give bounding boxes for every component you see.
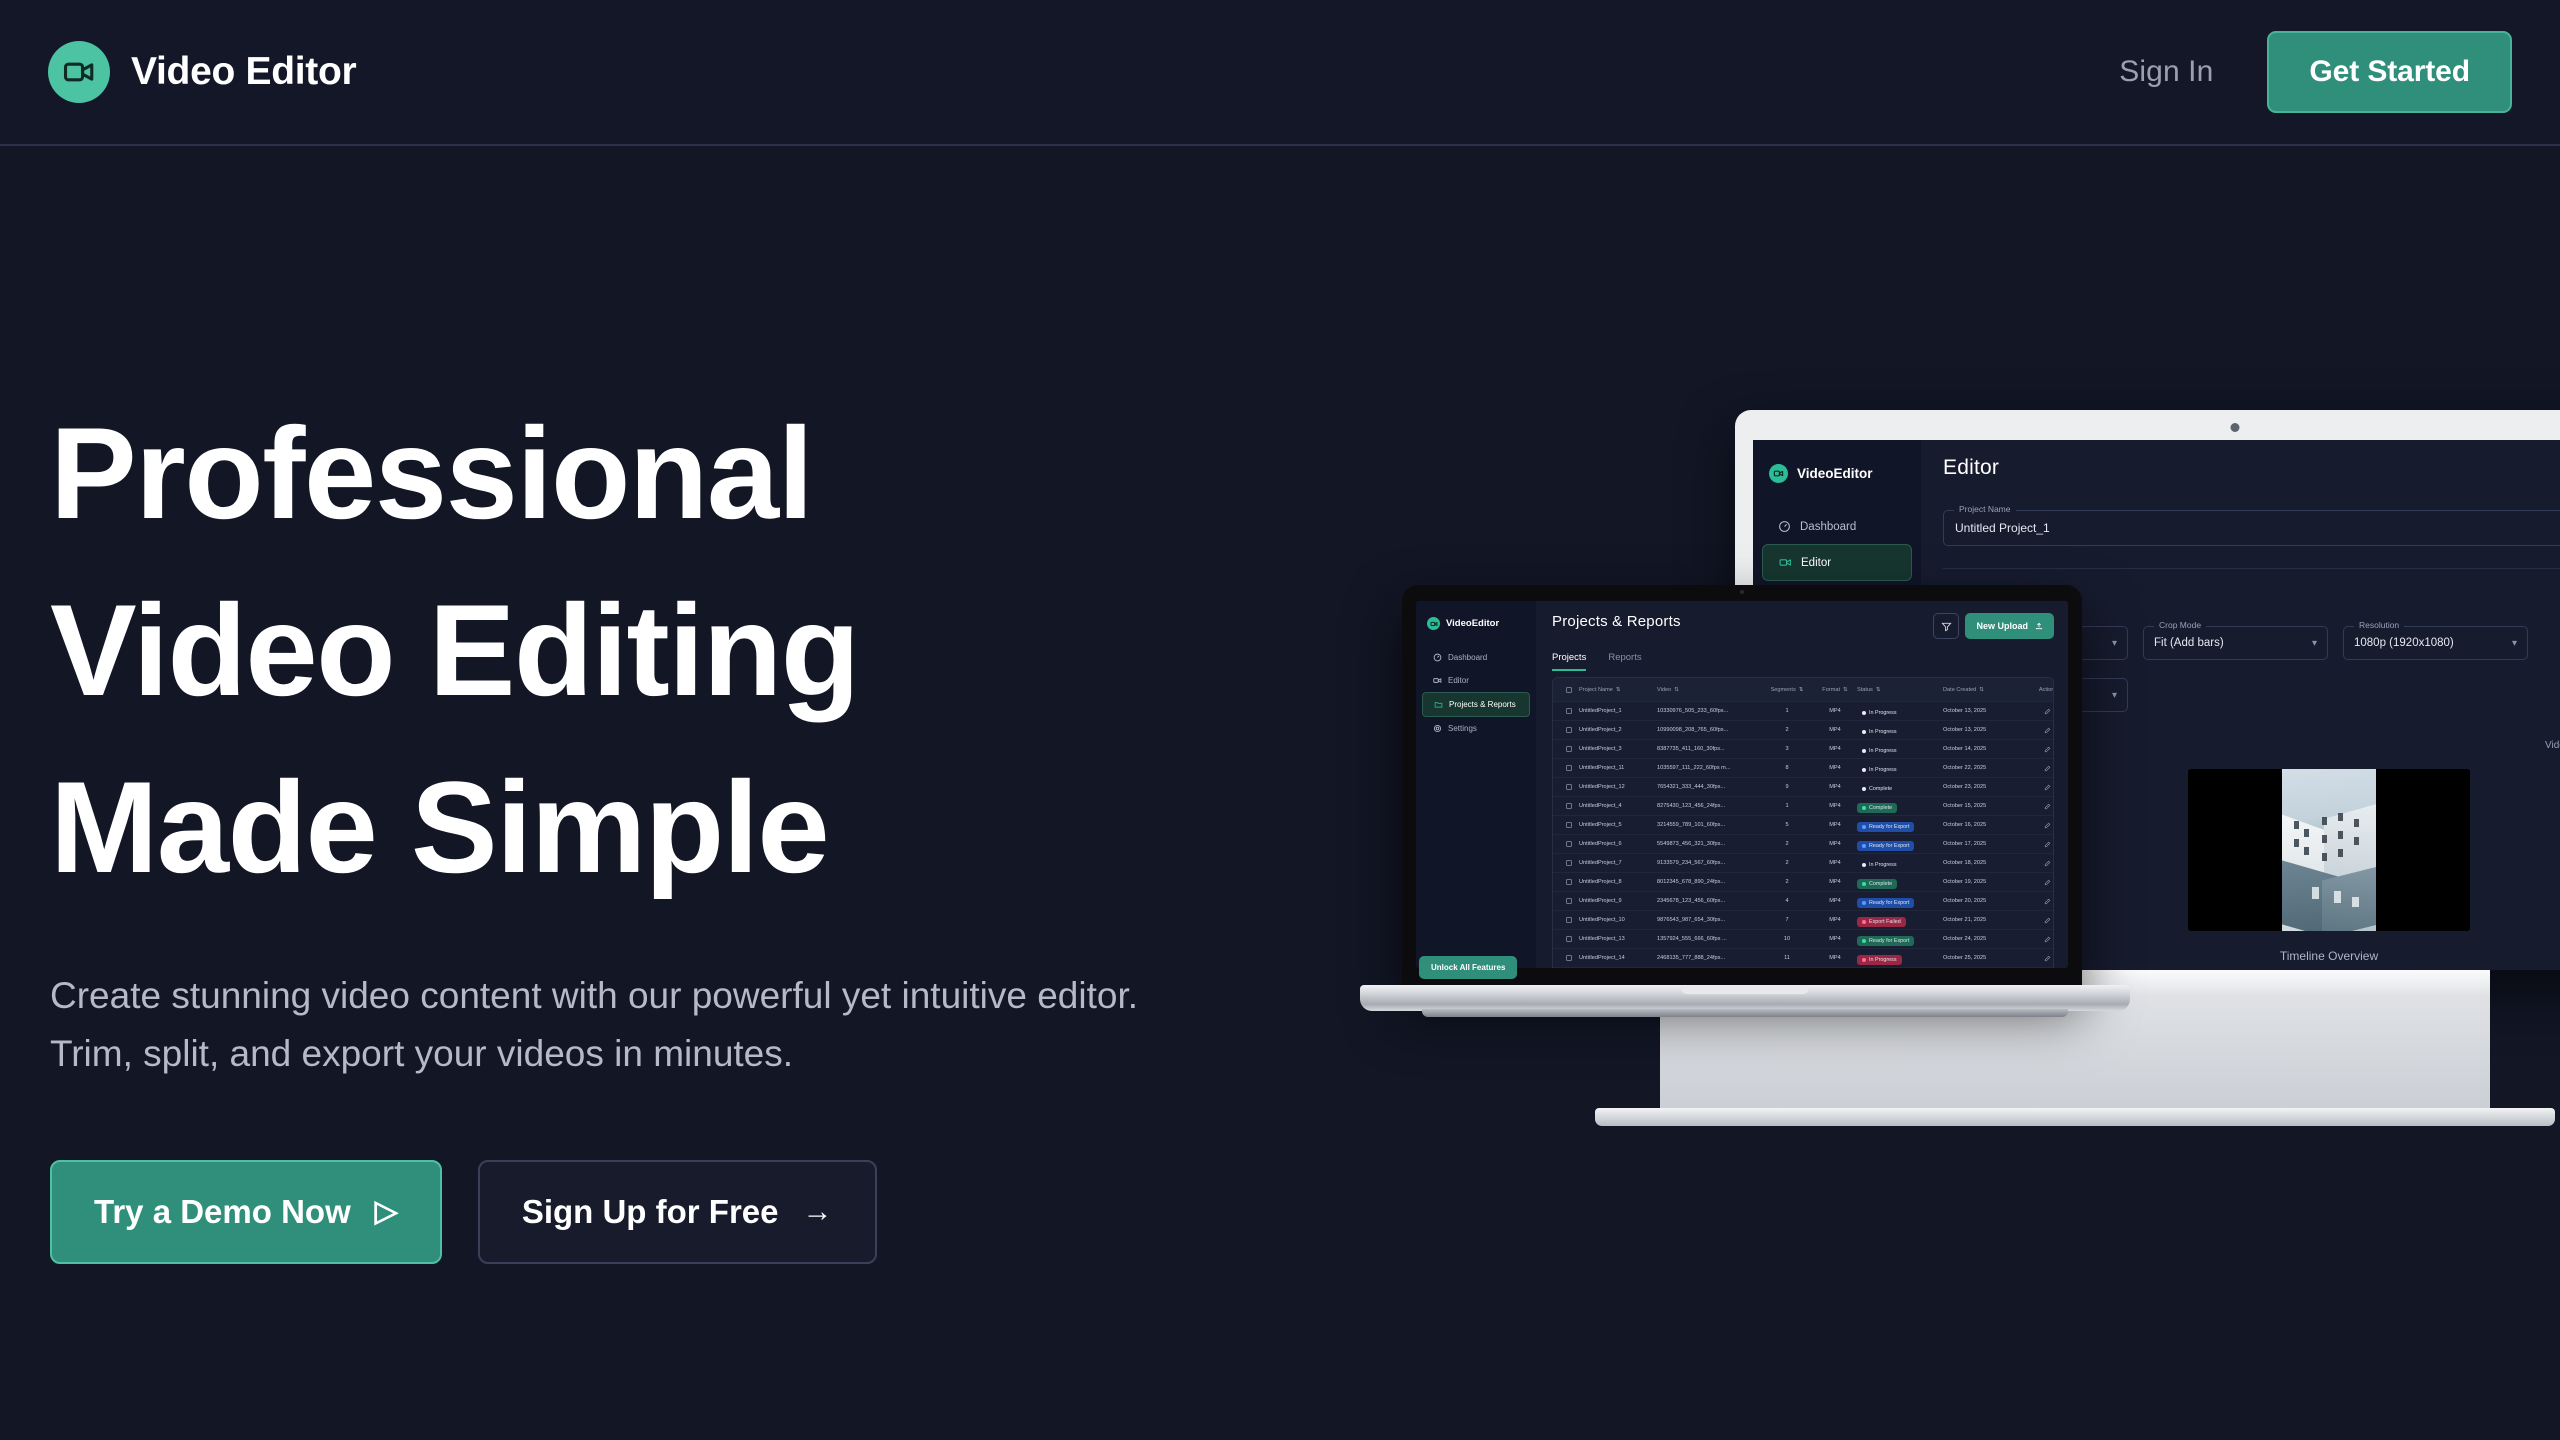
resolution-select[interactable]: Resolution 1080p (1920x1080) ▾ xyxy=(2343,626,2528,660)
cell-project-name: UntitledProject_3 xyxy=(1579,746,1657,752)
edit-icon[interactable] xyxy=(2044,797,2051,815)
cell-date-created: October 23, 2025 xyxy=(1943,784,2021,790)
sidebar-item-settings[interactable]: Settings xyxy=(1422,717,1530,740)
unlock-all-features-button[interactable]: Unlock All Features xyxy=(1419,956,1517,968)
table-row[interactable]: UntitledProject_111035597_111_222_60fps … xyxy=(1553,759,2053,778)
sign-up-free-label: Sign Up for Free xyxy=(522,1193,779,1231)
sidebar-label-editor: Editor xyxy=(1448,676,1469,685)
status-badge: In Progress xyxy=(1857,860,1902,870)
laptop-topbar-actions: New Upload xyxy=(1933,613,2054,639)
edit-icon[interactable] xyxy=(2044,759,2051,777)
sidebar-item-projects-reports[interactable]: Projects & Reports xyxy=(1422,692,1530,717)
project-name-value: Untitled Project_1 xyxy=(1955,521,2050,535)
table-row[interactable]: UntitledProject_53214559_789_101_60fps..… xyxy=(1553,816,2053,835)
cell-video: 1357924_555_666_60fps ... xyxy=(1657,936,1761,942)
cell-actions xyxy=(2021,740,2054,758)
row-checkbox[interactable] xyxy=(1559,784,1579,790)
row-checkbox[interactable] xyxy=(1559,898,1579,904)
row-checkbox[interactable] xyxy=(1559,708,1579,714)
edit-icon[interactable] xyxy=(2044,892,2051,910)
divider xyxy=(1943,568,2560,569)
cell-actions xyxy=(2021,797,2054,815)
laptop-base-foot xyxy=(1422,1009,2068,1017)
table-row[interactable]: UntitledProject_142468135_777_888_24fps.… xyxy=(1553,949,2053,968)
desktop-brand: VideoEditor xyxy=(1753,458,1921,483)
row-checkbox[interactable] xyxy=(1559,822,1579,828)
cell-video: 7654321_333_444_30fps... xyxy=(1657,784,1761,790)
cell-date-created: October 19, 2025 xyxy=(1943,879,2021,885)
column-header-segments[interactable]: Segments⇅ xyxy=(1761,687,1813,693)
sidebar-item-editor[interactable]: Editor xyxy=(1762,544,1912,581)
row-checkbox[interactable] xyxy=(1559,917,1579,923)
hero-subtitle: Create stunning video content with our p… xyxy=(50,967,1140,1082)
row-checkbox[interactable] xyxy=(1559,879,1579,885)
cell-video: 9133579_234_567_60fps... xyxy=(1657,860,1761,866)
video-camera-icon xyxy=(1769,464,1788,483)
cell-video: 10330976_505_233_60fps... xyxy=(1657,708,1761,714)
laptop-nav: Dashboard Editor Projects & Reports xyxy=(1416,646,1536,740)
gear-icon xyxy=(1433,724,1442,733)
cell-actions xyxy=(2021,721,2054,739)
crop-mode-label: Crop Mode xyxy=(2154,620,2206,630)
sidebar-label-settings: Settings xyxy=(1448,724,1477,733)
laptop-page-title: Projects & Reports xyxy=(1552,613,1681,630)
product-mockups: VideoEditor Dashboard Editor xyxy=(1360,390,2560,1220)
crop-mode-value: Fit (Add bars) xyxy=(2154,637,2224,649)
edit-icon[interactable] xyxy=(2044,778,2051,796)
status-badge: Complete xyxy=(1857,879,1897,889)
cell-project-name: UntitledProject_1 xyxy=(1579,708,1657,714)
try-a-demo-button[interactable]: Try a Demo Now ▷ xyxy=(50,1160,442,1264)
laptop-brand-name: VideoEditor xyxy=(1446,618,1499,629)
new-upload-button[interactable]: New Upload xyxy=(1965,613,2054,639)
laptop-lid: VideoEditor Dashboard Editor xyxy=(1402,585,2082,990)
projects-table: Project Name⇅ Video⇅ Segments⇅ Format⇅ S… xyxy=(1552,677,2054,968)
cell-format: MP4 xyxy=(1813,708,1857,714)
upload-icon xyxy=(2035,622,2043,630)
cell-date-created: October 16, 2025 xyxy=(1943,822,2021,828)
sidebar-label-dashboard: Dashboard xyxy=(1800,521,1856,533)
landing-page: Video Editor Sign In Get Started Profess… xyxy=(0,0,2560,1440)
cell-segments: 10 xyxy=(1761,936,1813,942)
hero-title-line-1: Professional xyxy=(50,385,1150,562)
cell-segments: 1 xyxy=(1761,803,1813,809)
table-row[interactable]: UntitledProject_109876543_987_654_30fps.… xyxy=(1553,911,2053,930)
laptop-main: Projects & Reports New Upload xyxy=(1536,601,2068,968)
cell-segments: 9 xyxy=(1761,784,1813,790)
cell-segments: 2 xyxy=(1761,879,1813,885)
cell-actions xyxy=(2021,854,2054,872)
chevron-down-icon: ▾ xyxy=(2312,638,2317,649)
cell-segments: 8 xyxy=(1761,765,1813,771)
table-row[interactable]: UntitledProject_110330976_505_233_60fps.… xyxy=(1553,702,2053,721)
cell-project-name: UntitledProject_6 xyxy=(1579,841,1657,847)
cell-status: In Progress xyxy=(1857,759,1943,777)
cell-actions xyxy=(2021,873,2054,891)
status-badge: Complete xyxy=(1857,784,1897,794)
status-badge: In Progress xyxy=(1857,746,1902,756)
row-checkbox[interactable] xyxy=(1559,955,1579,961)
cell-project-name: UntitledProject_12 xyxy=(1579,784,1657,790)
laptop-brand: VideoEditor xyxy=(1416,613,1536,630)
cell-project-name: UntitledProject_4 xyxy=(1579,803,1657,809)
status-badge: Ready for Export xyxy=(1857,936,1914,946)
cell-actions xyxy=(2021,949,2054,967)
filter-funnel-icon[interactable] xyxy=(1933,613,1959,639)
edit-icon[interactable] xyxy=(2044,930,2051,948)
cell-segments: 4 xyxy=(1761,898,1813,904)
cell-segments: 2 xyxy=(1761,860,1813,866)
table-row[interactable]: UntitledProject_88012345_678_890_24fps..… xyxy=(1553,873,2053,892)
cell-video: 9876543_987_654_30fps... xyxy=(1657,917,1761,923)
cell-date-created: October 15, 2025 xyxy=(1943,803,2021,809)
column-header-project-name[interactable]: Project Name⇅ xyxy=(1579,687,1657,693)
video-camera-icon xyxy=(48,41,110,103)
sidebar-item-dashboard[interactable]: Dashboard xyxy=(1422,646,1530,669)
table-body: UntitledProject_110330976_505_233_60fps.… xyxy=(1553,702,2053,968)
status-badge: Export Failed xyxy=(1857,917,1906,927)
cell-date-created: October 14, 2025 xyxy=(1943,746,2021,752)
edit-icon[interactable] xyxy=(2044,873,2051,891)
cell-date-created: October 24, 2025 xyxy=(1943,936,2021,942)
row-checkbox[interactable] xyxy=(1559,765,1579,771)
cell-format: MP4 xyxy=(1813,822,1857,828)
status-badge: Ready for Export xyxy=(1857,822,1914,832)
cell-date-created: October 17, 2025 xyxy=(1943,841,2021,847)
cell-format: MP4 xyxy=(1813,841,1857,847)
play-triangle-icon: ▷ xyxy=(375,1197,398,1227)
cell-format: MP4 xyxy=(1813,746,1857,752)
table-row[interactable]: UntitledProject_38387735_411_160_30fps..… xyxy=(1553,740,2053,759)
tab-reports[interactable]: Reports xyxy=(1608,652,1641,671)
status-badge: Ready for Export xyxy=(1857,841,1914,851)
desktop-topbar: Editor Save Exp xyxy=(1943,456,2560,492)
status-badge: Complete xyxy=(1857,803,1897,813)
cell-project-name: UntitledProject_7 xyxy=(1579,860,1657,866)
sort-icon: ⇅ xyxy=(1843,687,1848,693)
cell-project-name: UntitledProject_14 xyxy=(1579,955,1657,961)
folder-icon xyxy=(1434,700,1443,709)
hero-title-line-3: Made Simple xyxy=(50,739,1150,916)
cell-status: In Progress xyxy=(1857,854,1943,872)
cell-project-name: UntitledProject_5 xyxy=(1579,822,1657,828)
cell-format: MP4 xyxy=(1813,727,1857,733)
laptop-app-screen: VideoEditor Dashboard Editor xyxy=(1416,601,2068,968)
laptop-tabs: Projects Reports xyxy=(1552,652,2068,671)
row-checkbox[interactable] xyxy=(1559,936,1579,942)
cell-actions xyxy=(2021,702,2054,720)
sort-icon: ⇅ xyxy=(1979,687,1984,693)
monitor-foot xyxy=(1595,1108,2555,1126)
sort-icon: ⇅ xyxy=(1876,687,1881,693)
sign-in-link[interactable]: Sign In xyxy=(2119,55,2213,89)
cell-status: Complete xyxy=(1857,797,1943,815)
cell-actions xyxy=(2021,835,2054,853)
cell-format: MP4 xyxy=(1813,803,1857,809)
cell-project-name: UntitledProject_11 xyxy=(1579,765,1657,771)
cell-segments: 5 xyxy=(1761,822,1813,828)
cell-project-name: UntitledProject_9 xyxy=(1579,898,1657,904)
edit-icon[interactable] xyxy=(2044,721,2051,739)
video-player-size-control[interactable]: Video player size xyxy=(2545,740,2560,751)
cell-status: In Progress xyxy=(1857,721,1943,739)
cell-project-name: UntitledProject_8 xyxy=(1579,879,1657,885)
cell-format: MP4 xyxy=(1813,784,1857,790)
cell-project-name: UntitledProject_10 xyxy=(1579,917,1657,923)
laptop-deck-notch xyxy=(1681,986,1809,994)
cell-project-name: UntitledProject_2 xyxy=(1579,727,1657,733)
laptop-sidebar: VideoEditor Dashboard Editor xyxy=(1416,601,1536,968)
cell-format: MP4 xyxy=(1813,898,1857,904)
cell-segments: 7 xyxy=(1761,917,1813,923)
page-title: Professional Video Editing Made Simple xyxy=(50,385,1150,915)
cell-video: 8387735_411_160_30fps... xyxy=(1657,746,1761,752)
new-upload-label: New Upload xyxy=(1976,621,2028,631)
cell-status: Complete xyxy=(1857,873,1943,891)
video-camera-icon xyxy=(1427,617,1440,630)
resolution-label: Resolution xyxy=(2354,620,2404,630)
status-badge: In Progress xyxy=(1857,765,1902,775)
cell-segments: 2 xyxy=(1761,841,1813,847)
cell-format: MP4 xyxy=(1813,955,1857,961)
brand-name: Video Editor xyxy=(131,50,356,94)
gauge-icon xyxy=(1433,653,1442,662)
table-header-row: Project Name⇅ Video⇅ Segments⇅ Format⇅ S… xyxy=(1553,678,2053,702)
edit-icon[interactable] xyxy=(2044,949,2051,967)
tab-projects[interactable]: Projects xyxy=(1552,652,1586,671)
cell-format: MP4 xyxy=(1813,765,1857,771)
table-row[interactable]: UntitledProject_48275430_123_456_24fps..… xyxy=(1553,797,2053,816)
row-checkbox[interactable] xyxy=(1559,841,1579,847)
status-badge: In Progress xyxy=(1857,955,1902,965)
cell-status: Ready for Export xyxy=(1857,835,1943,853)
row-checkbox[interactable] xyxy=(1559,727,1579,733)
column-header-video[interactable]: Video⇅ xyxy=(1657,687,1761,693)
chevron-down-icon: ▾ xyxy=(2512,638,2517,649)
desktop-page-title: Editor xyxy=(1943,456,1999,480)
edit-icon[interactable] xyxy=(2044,835,2051,853)
table-row[interactable]: UntitledProject_92345678_123_456_60fps..… xyxy=(1553,892,2053,911)
cell-status: In Progress xyxy=(1857,740,1943,758)
cell-video: 8275430_123_456_24fps... xyxy=(1657,803,1761,809)
sidebar-label-dashboard: Dashboard xyxy=(1448,653,1487,662)
cell-segments: 2 xyxy=(1761,727,1813,733)
status-badge: In Progress xyxy=(1857,708,1902,718)
project-name-field[interactable]: Project Name Untitled Project_1 xyxy=(1943,510,2560,546)
cell-actions xyxy=(2021,930,2054,948)
cell-date-created: October 13, 2025 xyxy=(1943,727,2021,733)
sidebar-label-editor: Editor xyxy=(1801,557,1831,569)
cell-date-created: October 13, 2025 xyxy=(1943,708,2021,714)
monitor-camera-dot xyxy=(2231,423,2240,432)
cell-date-created: October 21, 2025 xyxy=(1943,917,2021,923)
site-header: Video Editor Sign In Get Started xyxy=(0,0,2560,146)
get-started-button[interactable]: Get Started xyxy=(2267,31,2512,113)
video-player-size-label: Video player size xyxy=(2545,740,2560,751)
column-header-format[interactable]: Format⇅ xyxy=(1813,687,1857,693)
sort-icon: ⇅ xyxy=(1616,687,1621,693)
table-row[interactable]: UntitledProject_131357924_555_666_60fps … xyxy=(1553,930,2053,949)
cell-video: 3214559_789_101_60fps... xyxy=(1657,822,1761,828)
sidebar-label-projects-reports: Projects & Reports xyxy=(1449,700,1516,709)
edit-icon[interactable] xyxy=(2044,816,2051,834)
cell-segments: 11 xyxy=(1761,955,1813,961)
try-a-demo-label: Try a Demo Now xyxy=(94,1193,351,1231)
cell-project-name: UntitledProject_13 xyxy=(1579,936,1657,942)
cell-status: Export Failed xyxy=(1857,911,1943,929)
gauge-icon xyxy=(1778,520,1791,533)
select-all-checkbox[interactable] xyxy=(1559,687,1579,693)
cell-video: 2468135_777_888_24fps... xyxy=(1657,955,1761,961)
hero-section: Professional Video Editing Made Simple C… xyxy=(50,385,1150,1264)
cell-status: Complete xyxy=(1857,778,1943,796)
table-row[interactable]: UntitledProject_127654321_333_444_30fps.… xyxy=(1553,778,2053,797)
column-header-actions: Actions xyxy=(2021,687,2054,693)
cell-date-created: October 25, 2025 xyxy=(1943,955,2021,961)
row-checkbox[interactable] xyxy=(1559,746,1579,752)
cell-actions xyxy=(2021,892,2054,910)
status-badge: Ready for Export xyxy=(1857,898,1914,908)
cell-status: In Progress xyxy=(1857,949,1943,967)
cell-date-created: October 18, 2025 xyxy=(1943,860,2021,866)
cell-status: Ready for Export xyxy=(1857,930,1943,948)
row-checkbox[interactable] xyxy=(1559,803,1579,809)
sign-up-free-button[interactable]: Sign Up for Free → xyxy=(478,1160,877,1264)
header-actions: Sign In Get Started xyxy=(2119,31,2512,113)
sidebar-item-editor[interactable]: Editor xyxy=(1422,669,1530,692)
cell-status: In Progress xyxy=(1857,702,1943,720)
column-header-status[interactable]: Status⇅ xyxy=(1857,687,1943,693)
video-player[interactable] xyxy=(2188,769,2470,931)
cell-video: 2345678_123_456_60fps... xyxy=(1657,898,1761,904)
hero-title-line-2: Video Editing xyxy=(50,562,1150,739)
laptop-topbar: Projects & Reports New Upload xyxy=(1552,613,2068,639)
status-badge: In Progress xyxy=(1857,727,1902,737)
laptop-camera-icon xyxy=(1740,590,1744,594)
cell-format: MP4 xyxy=(1813,860,1857,866)
cell-video: 8012345_678_890_24fps... xyxy=(1657,879,1761,885)
cell-video: 1035597_111_222_60fps m... xyxy=(1657,765,1761,771)
cell-actions xyxy=(2021,816,2054,834)
cell-format: MP4 xyxy=(1813,917,1857,923)
cell-actions xyxy=(2021,778,2054,796)
video-camera-icon xyxy=(1779,556,1792,569)
desktop-brand-name: VideoEditor xyxy=(1797,466,1873,481)
cell-video: 5549873_456_321_30fps... xyxy=(1657,841,1761,847)
cell-status: Ready for Export xyxy=(1857,892,1943,910)
edit-icon[interactable] xyxy=(2044,702,2051,720)
cell-actions xyxy=(2021,911,2054,929)
table-row[interactable]: UntitledProject_210990098_208_765_60fps.… xyxy=(1553,721,2053,740)
column-header-date-created[interactable]: Date Created⇅ xyxy=(1943,687,2021,693)
video-frame-image xyxy=(2282,769,2376,931)
sort-icon: ⇅ xyxy=(1799,687,1804,693)
edit-icon[interactable] xyxy=(2044,854,2051,872)
cell-date-created: October 22, 2025 xyxy=(1943,765,2021,771)
arrow-right-icon: → xyxy=(803,1197,833,1227)
table-row[interactable]: UntitledProject_79133579_234_567_60fps..… xyxy=(1553,854,2053,873)
hero-cta-group: Try a Demo Now ▷ Sign Up for Free → xyxy=(50,1160,1150,1264)
laptop-mockup: VideoEditor Dashboard Editor xyxy=(1360,585,2130,1045)
sidebar-item-dashboard[interactable]: Dashboard xyxy=(1762,509,1912,544)
table-row[interactable]: UntitledProject_65549873_456_321_30fps..… xyxy=(1553,835,2053,854)
row-checkbox[interactable] xyxy=(1559,860,1579,866)
cell-format: MP4 xyxy=(1813,936,1857,942)
cell-video: 10990098_208_765_60fps... xyxy=(1657,727,1761,733)
cell-format: MP4 xyxy=(1813,879,1857,885)
cell-date-created: October 20, 2025 xyxy=(1943,898,2021,904)
cell-status: Ready for Export xyxy=(1857,816,1943,834)
video-camera-icon xyxy=(1433,676,1442,685)
brand-logo[interactable]: Video Editor xyxy=(48,41,356,103)
sort-icon: ⇅ xyxy=(1674,687,1679,693)
crop-mode-select[interactable]: Crop Mode Fit (Add bars) ▾ xyxy=(2143,626,2328,660)
cell-actions xyxy=(2021,759,2054,777)
cell-segments: 1 xyxy=(1761,708,1813,714)
project-name-label: Project Name xyxy=(1954,504,2016,514)
cell-segments: 3 xyxy=(1761,746,1813,752)
edit-icon[interactable] xyxy=(2044,911,2051,929)
edit-icon[interactable] xyxy=(2044,740,2051,758)
resolution-value: 1080p (1920x1080) xyxy=(2354,637,2454,649)
